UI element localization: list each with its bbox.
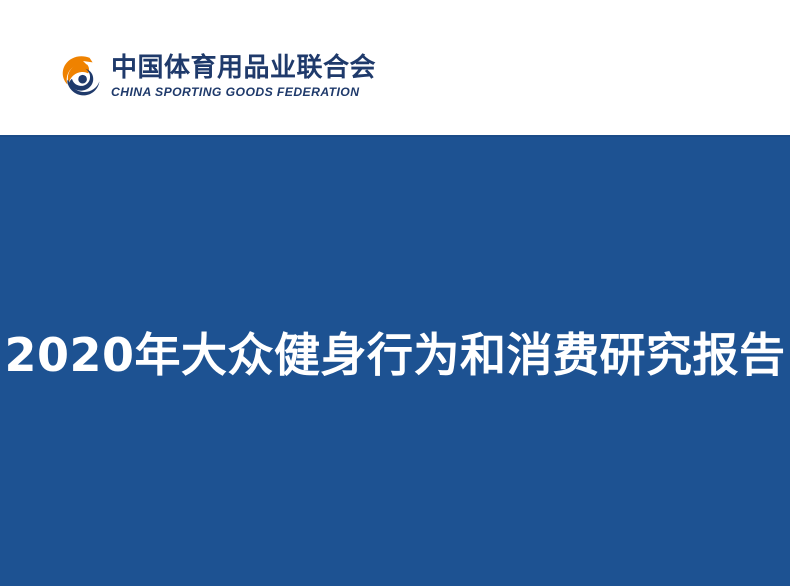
report-title: 2020年大众健身行为和消费研究报告 — [4, 330, 785, 381]
organization-logo: 中国体育用品业联合会 CHINA SPORTING GOODS FEDERATI… — [58, 52, 376, 102]
logo-wordmark: 中国体育用品业联合会 CHINA SPORTING GOODS FEDERATI… — [111, 54, 376, 100]
cover-title-area: 2020年大众健身行为和消费研究报告 — [0, 135, 790, 586]
organization-name-cn: 中国体育用品业联合会 — [111, 54, 376, 82]
report-cover-slide: 中国体育用品业联合会 CHINA SPORTING GOODS FEDERATI… — [0, 0, 790, 586]
csgf-swoosh-logo-icon — [58, 52, 102, 102]
organization-name-en: CHINA SPORTING GOODS FEDERATION — [111, 86, 376, 99]
cover-body-band: 2020年大众健身行为和消费研究报告 — [0, 135, 790, 586]
header-band: 中国体育用品业联合会 CHINA SPORTING GOODS FEDERATI… — [0, 0, 790, 135]
